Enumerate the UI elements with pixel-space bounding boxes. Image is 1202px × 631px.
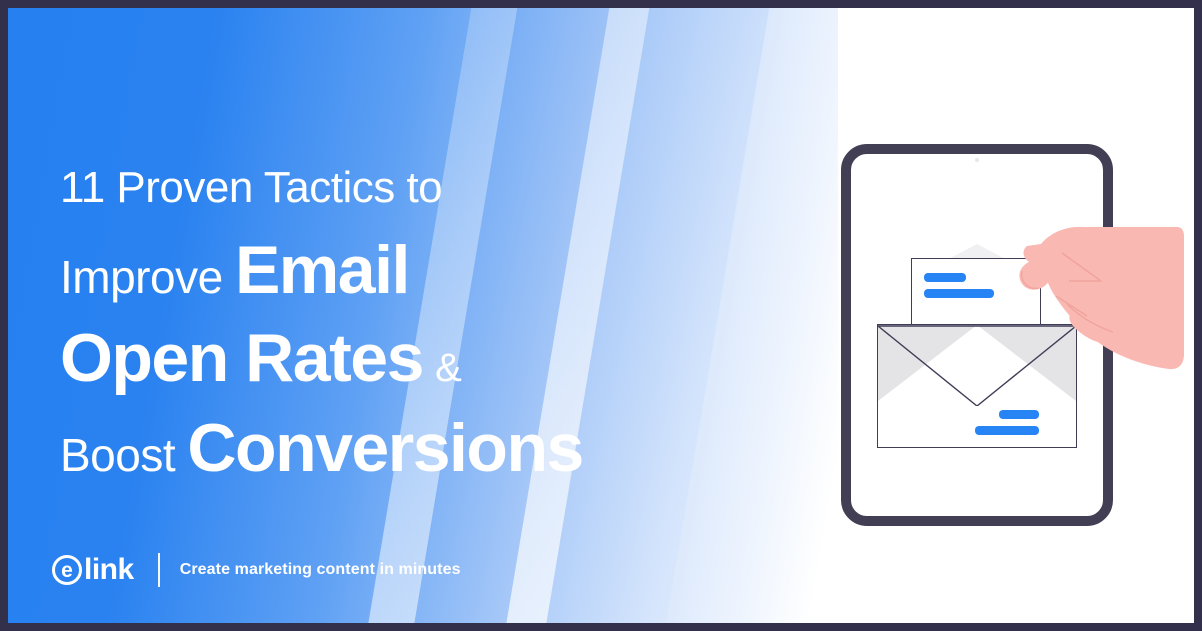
tablet-device (841, 144, 1113, 526)
tablet-screen (851, 154, 1103, 516)
headline-ampersand: & (435, 346, 461, 390)
logo-wordmark: link (84, 553, 134, 587)
headline-line-4: Boost Conversions (60, 414, 680, 482)
tagline-text: Create marketing content in minutes (180, 561, 461, 579)
headline-line-3: Open Rates & (60, 324, 680, 392)
headline-line-3-bold: Open Rates (60, 320, 423, 396)
footer-lockup: e link Create marketing content in minut… (52, 553, 461, 587)
headline-line-2-light: Improve (60, 251, 223, 303)
headline-line-4-light: Boost (60, 429, 175, 481)
vertical-divider (158, 553, 160, 587)
headline-line-2: Improve Email (60, 236, 680, 304)
elink-logo[interactable]: e link (52, 553, 134, 587)
envelope-accent-bar-1 (999, 410, 1039, 419)
headline-line-1: 11 Proven Tactics to (60, 166, 680, 210)
letter-accent-bar-2 (924, 289, 994, 298)
envelope-open-flap-outline (877, 322, 1077, 406)
banner-canvas: 11 Proven Tactics to Improve Email Open … (8, 8, 1194, 623)
letter-accent-bar-1 (924, 273, 966, 282)
circled-e-icon: e (52, 555, 82, 585)
envelope-accent-bar-2 (975, 426, 1039, 435)
headline-line-4-bold: Conversions (187, 410, 582, 486)
headline-line-2-bold: Email (235, 232, 409, 308)
headline-block: 11 Proven Tactics to Improve Email Open … (60, 166, 680, 482)
banner-root: 11 Proven Tactics to Improve Email Open … (0, 0, 1202, 631)
envelope-illustration (877, 258, 1077, 458)
